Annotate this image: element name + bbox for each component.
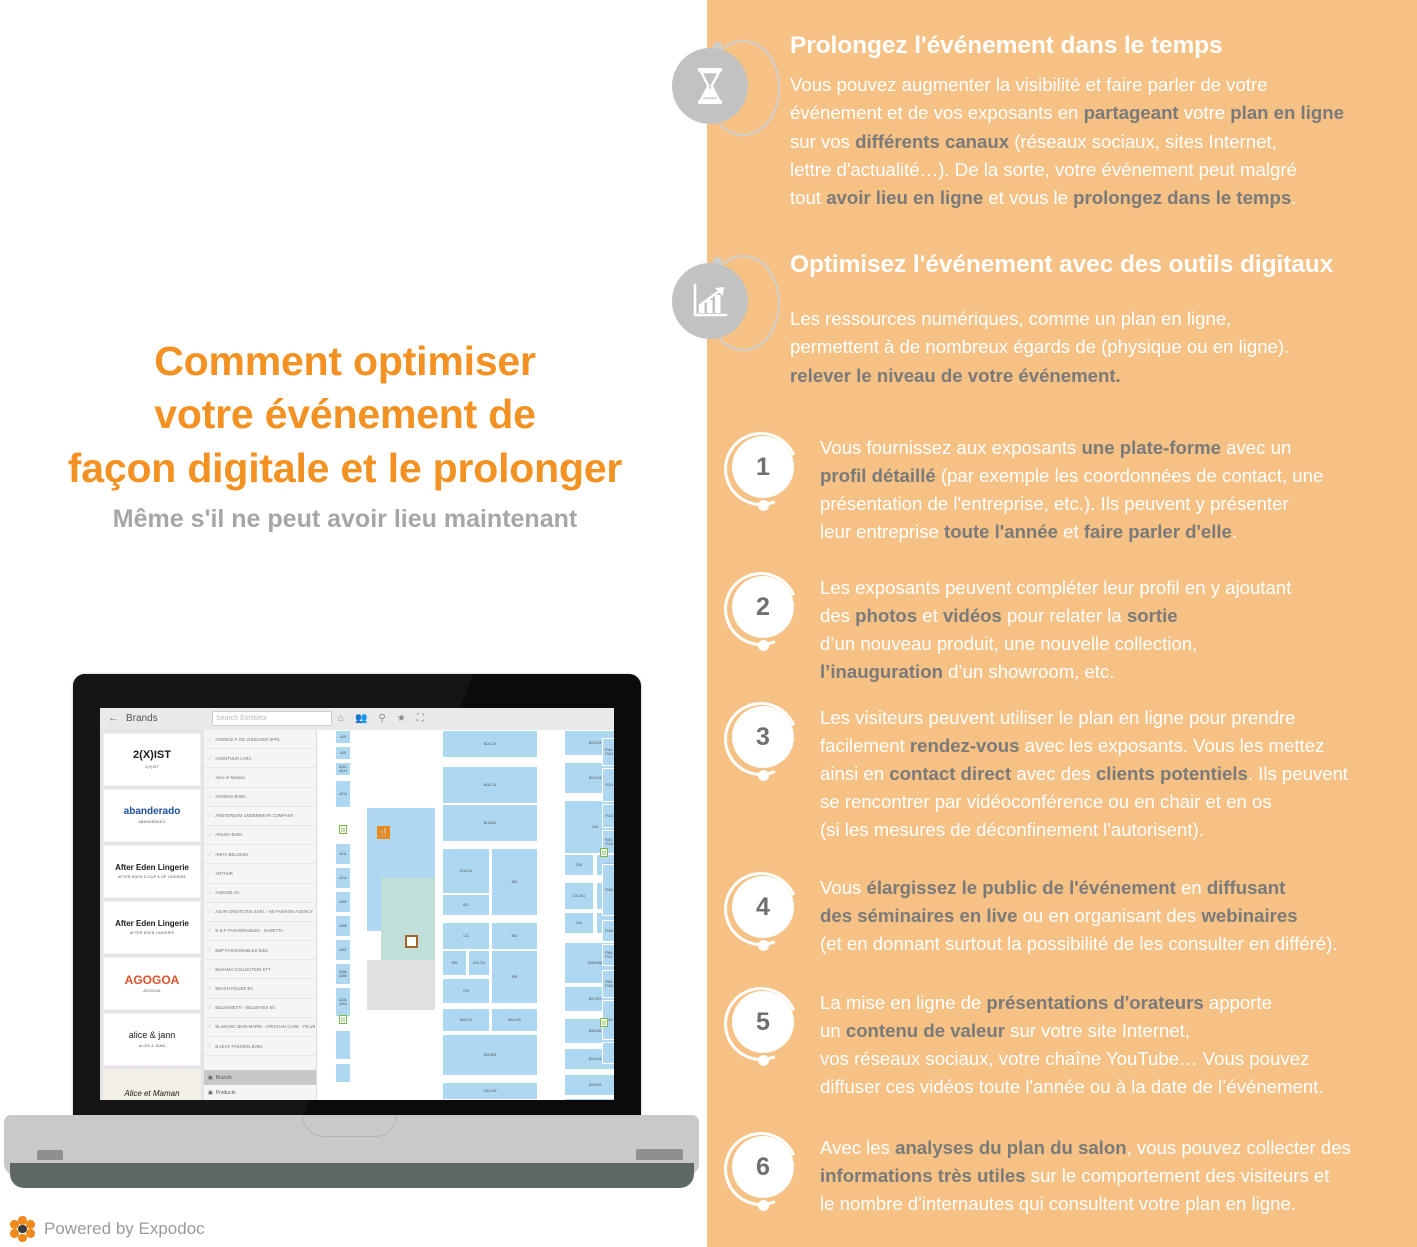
booth[interactable]: A211: [335, 843, 351, 865]
list-item[interactable]: ☆AMSTERDAM UNDERWEAR COMPANY: [204, 807, 316, 826]
nav-item-label: Products: [216, 1090, 236, 1096]
brand-card[interactable]: AGOGOAAGOGOA: [103, 957, 201, 1010]
booth[interactable]: A19: [335, 730, 351, 744]
booth[interactable]: A207: [335, 939, 351, 961]
section-heading-2: Optimisez l'événement avec des outils di…: [790, 251, 1390, 279]
booth[interactable]: D10: [564, 912, 594, 934]
badge-number-5: 5: [732, 991, 794, 1053]
infographic-root: Comment optimiser votre événement de faç…: [0, 0, 1417, 1247]
list-item-label: AGENTUUR LARA: [215, 756, 251, 761]
exit-door-icon[interactable]: ▥: [339, 825, 347, 834]
brand-caption: AGOGOA: [143, 989, 160, 993]
expodoc-hex-flower-logo: [10, 1216, 36, 1242]
brand-logo: After Eden Lingerie: [115, 864, 189, 872]
list-item[interactable]: ☆AMUSA BVBA: [204, 826, 316, 845]
badge-dot-4: [758, 940, 769, 951]
brand-logo: AGOGOA: [125, 974, 180, 987]
star-icon[interactable]: ☆: [207, 1043, 212, 1050]
star-icon[interactable]: ☆: [207, 908, 212, 915]
home-icon[interactable]: ⌂: [338, 714, 344, 724]
list-item[interactable]: ☆ARTHUR: [204, 864, 316, 883]
folder-icon: ▣: [208, 1075, 213, 1081]
badge-number-3: 3: [732, 706, 794, 768]
booth[interactable]: D11-E11: [564, 882, 594, 910]
booth[interactable]: [602, 1042, 614, 1064]
booth[interactable]: B11: [442, 894, 490, 916]
list-item-label: BAHAMA COLLECTION KFT: [215, 967, 270, 972]
star-icon[interactable]: ☆: [207, 755, 212, 762]
list-item-label: BELMANETTI - BELMATEX Kft: [215, 1005, 275, 1010]
exit-door-icon[interactable]: ▥: [600, 1018, 608, 1027]
star-icon[interactable]: ☆: [207, 947, 212, 954]
footer-label: Powered by Expodoc: [44, 1219, 205, 1239]
list-item[interactable]: ☆AGENTUUR LARA: [204, 749, 316, 768]
booth[interactable]: F014-F014: [602, 738, 614, 766]
booth[interactable]: C00-C03: [442, 1082, 538, 1100]
brand-logo: After Eden Lingerie: [115, 920, 189, 928]
laptop-mockup: ← Brands Search Exhibitor ⌂ 👥 ⚲ ★ ⛶ 2(X)…: [0, 660, 700, 1220]
hall-area-gray: [367, 960, 435, 1010]
badge-dot-3: [758, 770, 769, 781]
badge-4: 4: [722, 870, 814, 962]
footer: Powered by Expodoc: [10, 1216, 205, 1242]
badge-5: 5: [722, 985, 814, 1077]
nav-item-products[interactable]: ▣Products: [204, 1085, 316, 1100]
booth[interactable]: B09: [491, 950, 538, 1004]
location-pin-icon[interactable]: ⚲: [379, 714, 386, 724]
brand-logo: abanderado: [124, 807, 181, 818]
star-icon[interactable]: ★: [397, 714, 406, 724]
laptop-port-right: [636, 1149, 683, 1160]
brand-card[interactable]: Alice et Maman: [103, 1069, 201, 1100]
badge-dot-2: [758, 640, 769, 651]
booth[interactable]: A210-A214: [335, 762, 351, 776]
star-icon[interactable]: ☆: [207, 889, 212, 896]
list-item[interactable]: ☆BEACH HOUSE BV: [204, 979, 316, 998]
booth[interactable]: A203-A204: [335, 987, 351, 1017]
badge-dot-5: [758, 1055, 769, 1066]
frame-icon[interactable]: [405, 935, 418, 948]
badge-number-1: 1: [732, 436, 794, 498]
list-item[interactable]: ☆BLANCKE JEAN-MARIE - CRISTIAN CANE - PI…: [204, 1018, 316, 1037]
star-icon[interactable]: ☆: [207, 832, 212, 839]
booth[interactable]: C09: [442, 978, 490, 1004]
booth[interactable]: F006: [602, 920, 614, 942]
badge-6: 6: [722, 1130, 814, 1222]
list-item[interactable]: ☆B & P FASHIONABLES - SANETTA: [204, 922, 316, 941]
badge-number-2: 2: [732, 576, 794, 638]
brand-logo: 2(X)IST: [133, 750, 171, 762]
list-item[interactable]: ☆AZUR CREATIONS SARL - AB FASHION AGENCY: [204, 903, 316, 922]
people-icon[interactable]: 👥: [355, 714, 367, 724]
laptop-base-shadow: [10, 1163, 694, 1188]
booth[interactable]: [335, 1063, 351, 1083]
booth[interactable]: A206-A208: [335, 963, 351, 985]
star-icon[interactable]: ☆: [207, 851, 212, 858]
hourglass-icon: [672, 48, 748, 124]
star-icon[interactable]: ☆: [207, 1004, 212, 1011]
list-item-label: AZUR CREATIONS SARL - AB FASHION AGENCY: [215, 909, 313, 914]
booth[interactable]: B14-C14: [442, 730, 538, 758]
floor-plan[interactable]: 🍴 A19A15A210-A214A213A211A210A209A208A20…: [316, 730, 614, 1100]
booth[interactable]: A208: [335, 915, 351, 937]
list-item-label: AMSTERDAM UNDERWEAR COMPANY: [215, 813, 293, 818]
list-item-label: BLANCKE JEAN-MARIE - CRISTIAN CANE - PIL…: [215, 1024, 315, 1029]
booth[interactable]: D15: [564, 854, 594, 876]
list-item-label: AMOENA BVBA: [215, 794, 246, 799]
exit-door-icon[interactable]: ▥: [339, 1015, 347, 1024]
list-item-label: AGENCE P. DE VISSCHER SPRL: [215, 737, 280, 742]
list-item-label: AUBADE SA: [215, 890, 239, 895]
booth[interactable]: D03-E03: [564, 1074, 614, 1096]
panel-title: Brands: [126, 713, 158, 724]
nav-item-label: Brands: [216, 1075, 232, 1081]
brand-card[interactable]: alice & jannALICE & JANN: [103, 1013, 201, 1066]
item-text-2: Les exposants peuvent compléter leur pro…: [820, 574, 1291, 686]
exhibitor-list[interactable]: ☆AGENCE P. DE VISSCHER SPRL☆AGENTUUR LAR…: [204, 730, 316, 1100]
section-heading-1: Prolongez l'événement dans le temps: [790, 32, 1370, 60]
brand-caption: AFTER EDEN D-CUP & UP LINGERIE: [118, 875, 186, 879]
section-body-2: Les ressources numériques, comme un plan…: [790, 305, 1390, 390]
booth[interactable]: B13-B14: [442, 804, 538, 842]
list-nav-footer[interactable]: ▣Brands▣Products: [204, 1070, 316, 1100]
exit-door-icon[interactable]: ▥: [600, 848, 608, 857]
title-line-1: Comment optimiser: [0, 335, 690, 388]
title-line-2: votre événement de: [0, 388, 690, 441]
brand-caption: ABANDERADO: [138, 820, 165, 824]
star-icon[interactable]: ☆: [207, 812, 212, 819]
badge-3: 3: [722, 700, 814, 792]
booth[interactable]: B00-B03: [442, 1034, 538, 1076]
brand-card[interactable]: 2(X)IST2(X)IST: [103, 733, 201, 786]
item-text-5: La mise en ligne de présentations d'orat…: [820, 989, 1324, 1101]
nav-item-brands[interactable]: ▣Brands: [204, 1070, 316, 1085]
title-line-3: façon digitale et le prolonger: [0, 442, 690, 495]
booth[interactable]: A213: [335, 780, 351, 808]
brand-caption: 2(X)IST: [145, 765, 159, 769]
star-icon[interactable]: ☆: [207, 966, 212, 973]
list-item-label: BEACH HOUSE BV: [215, 986, 253, 991]
badge-number-6: 6: [732, 1136, 794, 1198]
booth[interactable]: C11: [442, 922, 490, 950]
app-toolbar: ← Brands Search Exhibitor ⌂ 👥 ⚲ ★ ⛶: [100, 708, 614, 730]
brand-card[interactable]: abanderadoABANDERADO: [103, 789, 201, 842]
booth[interactable]: B09: [442, 950, 467, 976]
booth[interactable]: [335, 1030, 351, 1060]
item-text-1: Vous fournissez aux exposants une plate-…: [820, 434, 1323, 546]
brand-card[interactable]: After Eden LingerieAFTER EDEN D-CUP & UP…: [103, 845, 201, 898]
badge-dot-6: [758, 1200, 769, 1211]
badge-dot-1: [758, 500, 769, 511]
search-placeholder: Search Exhibitor: [213, 712, 331, 725]
star-icon[interactable]: ☆: [207, 1023, 212, 1030]
list-item[interactable]: ☆BELMANETTI - BELMATEX Kft: [204, 999, 316, 1018]
list-item[interactable]: ☆B&P FASHIONABLES bvba: [204, 941, 316, 960]
list-item-label: Alice et Maman: [215, 775, 245, 780]
folder-icon: ▣: [208, 1090, 213, 1096]
list-item[interactable]: ☆B-LEAF FASHION BVBA: [204, 1037, 316, 1056]
star-icon[interactable]: ☆: [207, 793, 212, 800]
booth[interactable]: F013: [602, 804, 614, 828]
list-item[interactable]: ☆Alice et Maman: [204, 768, 316, 787]
search-input[interactable]: Search Exhibitor: [212, 711, 332, 726]
star-icon[interactable]: ☆: [207, 736, 212, 743]
toolbar-icon-group: ⌂ 👥 ⚲ ★ ⛶: [338, 711, 458, 727]
back-arrow-icon[interactable]: ←: [108, 712, 119, 724]
booth[interactable]: A209: [335, 891, 351, 913]
laptop-screen: ← Brands Search Exhibitor ⌂ 👥 ⚲ ★ ⛶ 2(X)…: [100, 708, 614, 1100]
booth[interactable]: C13-C14: [442, 848, 490, 894]
list-item-label: ARTHUR: [215, 871, 233, 876]
booth[interactable]: A210: [335, 867, 351, 889]
laptop-port-left: [37, 1150, 63, 1160]
list-item[interactable]: ☆BAHAMA COLLECTION KFT: [204, 960, 316, 979]
booth[interactable]: F014: [602, 768, 614, 802]
booth[interactable]: A15: [335, 746, 351, 760]
list-item-label: B-LEAF FASHION BVBA: [215, 1044, 262, 1049]
star-icon[interactable]: ☆: [207, 774, 212, 781]
badge-1: 1: [722, 430, 814, 522]
star-icon[interactable]: ☆: [207, 985, 212, 992]
item-text-3: Les visiteurs peuvent utiliser le plan e…: [820, 704, 1348, 843]
list-item-label: B & P FASHIONABLES - SANETTA: [215, 928, 283, 933]
list-item-label: ANITA BELGIUM: [215, 852, 247, 857]
fullscreen-icon[interactable]: ⛶: [417, 714, 424, 724]
booth[interactable]: B04-C07: [442, 1008, 490, 1032]
brand-caption: AFTER EDEN LINGERIE: [130, 931, 174, 935]
booth[interactable]: F004-F006: [602, 970, 614, 998]
section-body-1: Vous pouvez augmenter la visibilité et f…: [790, 71, 1370, 212]
brand-logo: Alice et Maman: [124, 1090, 179, 1098]
badge-number-4: 4: [732, 876, 794, 938]
laptop-notch: [302, 1115, 397, 1137]
star-icon[interactable]: ☆: [207, 870, 212, 877]
booth[interactable]: F006-F007: [602, 944, 614, 966]
item-text-4: Vous élargissez le public de l'événement…: [820, 874, 1338, 958]
list-item-label: B&P FASHIONABLES bvba: [215, 948, 268, 953]
booth[interactable]: D00-E00: [564, 1098, 614, 1100]
list-item[interactable]: ☆ANITA BELGIUM: [204, 845, 316, 864]
badge-2: 2: [722, 570, 814, 662]
brand-card-list[interactable]: 2(X)IST2(X)ISTabanderadoABANDERADOAfter …: [100, 730, 204, 1100]
item-text-6: Avec les analyses du plan du salon, vous…: [820, 1134, 1351, 1218]
booth[interactable]: B14-C14: [442, 766, 538, 804]
list-item-label: AMUSA BVBA: [215, 832, 242, 837]
booth[interactable]: B04-C09: [491, 1008, 538, 1032]
booth[interactable]: F006: [602, 864, 614, 916]
brand-logo: alice & jann: [129, 1031, 176, 1040]
star-icon[interactable]: ☆: [207, 927, 212, 934]
brand-card[interactable]: After Eden LingerieAFTER EDEN LINGERIE: [103, 901, 201, 954]
page-title: Comment optimiser votre événement de faç…: [0, 335, 690, 534]
page-subtitle: Même s'il ne peut avoir lieu maintenant: [0, 505, 690, 534]
bar-chart-growth-icon: [672, 263, 748, 339]
list-item[interactable]: ☆AMOENA BVBA: [204, 788, 316, 807]
booth[interactable]: B15: [491, 922, 538, 950]
booth[interactable]: B13: [491, 848, 538, 916]
list-item[interactable]: ☆AGENCE P. DE VISSCHER SPRL: [204, 730, 316, 749]
list-item[interactable]: ☆AUBADE SA: [204, 884, 316, 903]
restaurant-icon[interactable]: 🍴: [377, 826, 390, 839]
brand-caption: ALICE & JANN: [139, 1044, 166, 1048]
booth[interactable]: C09-C11: [468, 950, 490, 976]
